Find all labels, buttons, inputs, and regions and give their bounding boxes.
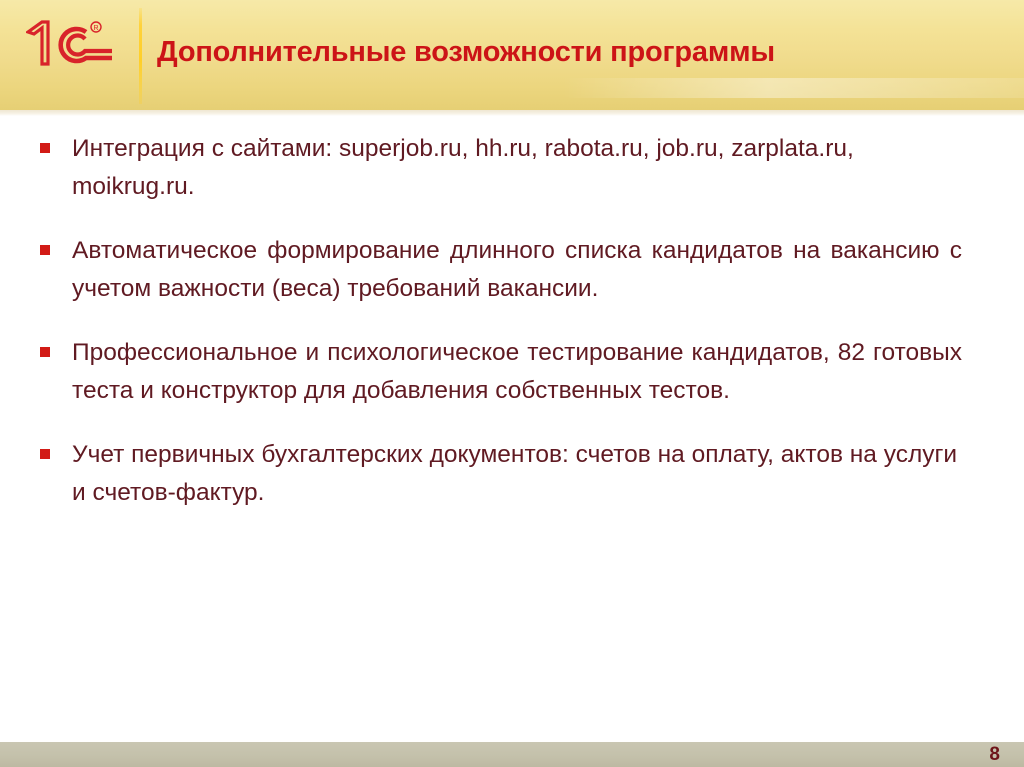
square-bullet-icon (40, 449, 50, 459)
header-underline (0, 110, 1024, 116)
square-bullet-icon (40, 347, 50, 357)
bullet-list: Интеграция с сайтами: superjob.ru, hh.ru… (0, 130, 1024, 538)
onec-logo: R (26, 18, 126, 70)
list-item-text: Учет первичных бухгалтерских документов:… (72, 436, 962, 512)
page-number: 8 (989, 743, 1000, 767)
list-item: Профессиональное и психологическое тести… (0, 334, 1024, 410)
page-title: Дополнительные возможности программы (157, 36, 775, 69)
list-item-text: Профессиональное и психологическое тести… (72, 334, 962, 410)
list-item-text: Автоматическое формирование длинного спи… (72, 232, 962, 308)
square-bullet-icon (40, 143, 50, 153)
svg-text:R: R (93, 25, 98, 32)
footer-band (0, 742, 1024, 767)
list-item: Автоматическое формирование длинного спи… (0, 232, 1024, 308)
header-sheen (0, 78, 1024, 98)
header-divider (139, 8, 142, 104)
list-item: Интеграция с сайтами: superjob.ru, hh.ru… (0, 130, 1024, 206)
list-item: Учет первичных бухгалтерских документов:… (0, 436, 1024, 512)
slide-header: R Дополнительные возможности программы (0, 0, 1024, 110)
square-bullet-icon (40, 245, 50, 255)
slide: R Дополнительные возможности программы И… (0, 0, 1024, 767)
list-item-text: Интеграция с сайтами: superjob.ru, hh.ru… (72, 130, 962, 206)
